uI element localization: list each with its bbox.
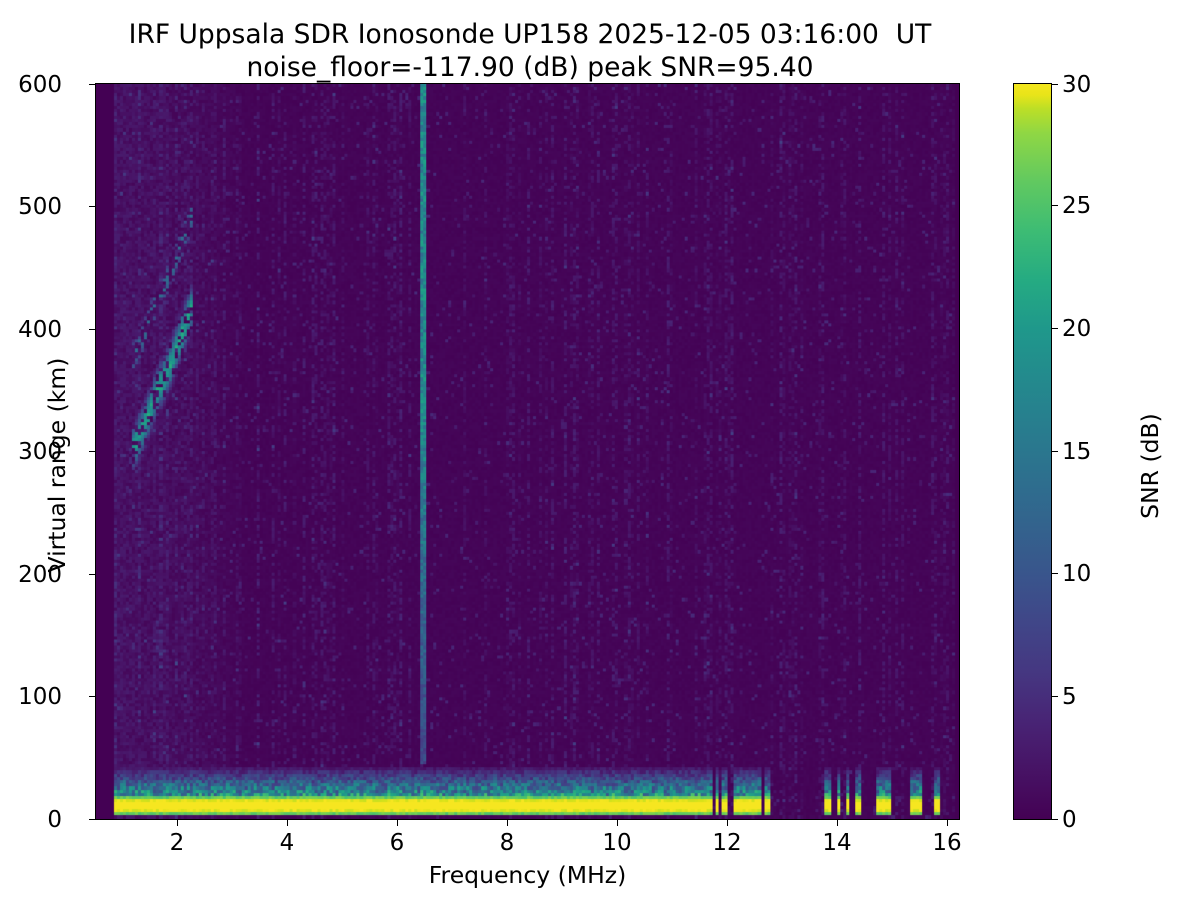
c-tick-0	[1052, 819, 1058, 820]
x-tick-14	[837, 820, 838, 826]
x-tick-2	[177, 820, 178, 826]
title-line-2: noise_floor=-117.90 (dB) peak SNR=95.40	[0, 51, 1060, 84]
x-ticklabel-10: 10	[577, 830, 657, 856]
x-ticklabel-16: 16	[907, 830, 987, 856]
ionogram-plot-area	[95, 83, 960, 820]
ionogram-heatmap-canvas	[96, 84, 959, 819]
x-ticklabel-14: 14	[797, 830, 877, 856]
c-ticklabel-15: 15	[1062, 439, 1091, 465]
y-tick-200	[89, 574, 95, 575]
c-tick-15	[1052, 451, 1058, 452]
colorbar-label: SNR (dB)	[1136, 316, 1164, 616]
x-ticklabel-2: 2	[137, 830, 217, 856]
y-ticklabel-600: 600	[0, 72, 62, 98]
x-ticklabel-8: 8	[467, 830, 547, 856]
y-axis-label: Virtual range (km)	[43, 315, 71, 615]
x-tick-12	[727, 820, 728, 826]
y-ticklabel-0: 0	[0, 807, 62, 833]
x-tick-6	[397, 820, 398, 826]
figure-title: IRF Uppsala SDR Ionosonde UP158 2025-12-…	[0, 18, 1060, 84]
x-axis-label: Frequency (MHz)	[95, 861, 960, 889]
y-ticklabel-100: 100	[0, 684, 62, 710]
c-tick-25	[1052, 205, 1058, 206]
c-tick-30	[1052, 84, 1058, 85]
x-tick-4	[287, 820, 288, 826]
x-tick-10	[617, 820, 618, 826]
x-ticklabel-12: 12	[687, 830, 767, 856]
y-tick-300	[89, 451, 95, 452]
c-ticklabel-5: 5	[1062, 684, 1077, 710]
y-ticklabel-500: 500	[0, 194, 62, 220]
c-ticklabel-10: 10	[1062, 561, 1091, 587]
y-tick-100	[89, 696, 95, 697]
c-tick-20	[1052, 328, 1058, 329]
x-ticklabel-4: 4	[247, 830, 327, 856]
x-tick-16	[947, 820, 948, 826]
y-tick-400	[89, 329, 95, 330]
c-ticklabel-20: 20	[1062, 316, 1091, 342]
y-tick-0	[89, 819, 95, 820]
c-ticklabel-0: 0	[1062, 807, 1077, 833]
ionogram-figure: IRF Uppsala SDR Ionosonde UP158 2025-12-…	[0, 0, 1200, 900]
colorbar	[1013, 83, 1052, 820]
c-tick-10	[1052, 573, 1058, 574]
x-ticklabel-6: 6	[357, 830, 437, 856]
title-line-1: IRF Uppsala SDR Ionosonde UP158 2025-12-…	[0, 18, 1060, 51]
y-tick-600	[89, 84, 95, 85]
c-ticklabel-30: 30	[1062, 72, 1091, 98]
c-tick-5	[1052, 696, 1058, 697]
y-tick-500	[89, 206, 95, 207]
c-ticklabel-25: 25	[1062, 193, 1091, 219]
x-tick-8	[507, 820, 508, 826]
